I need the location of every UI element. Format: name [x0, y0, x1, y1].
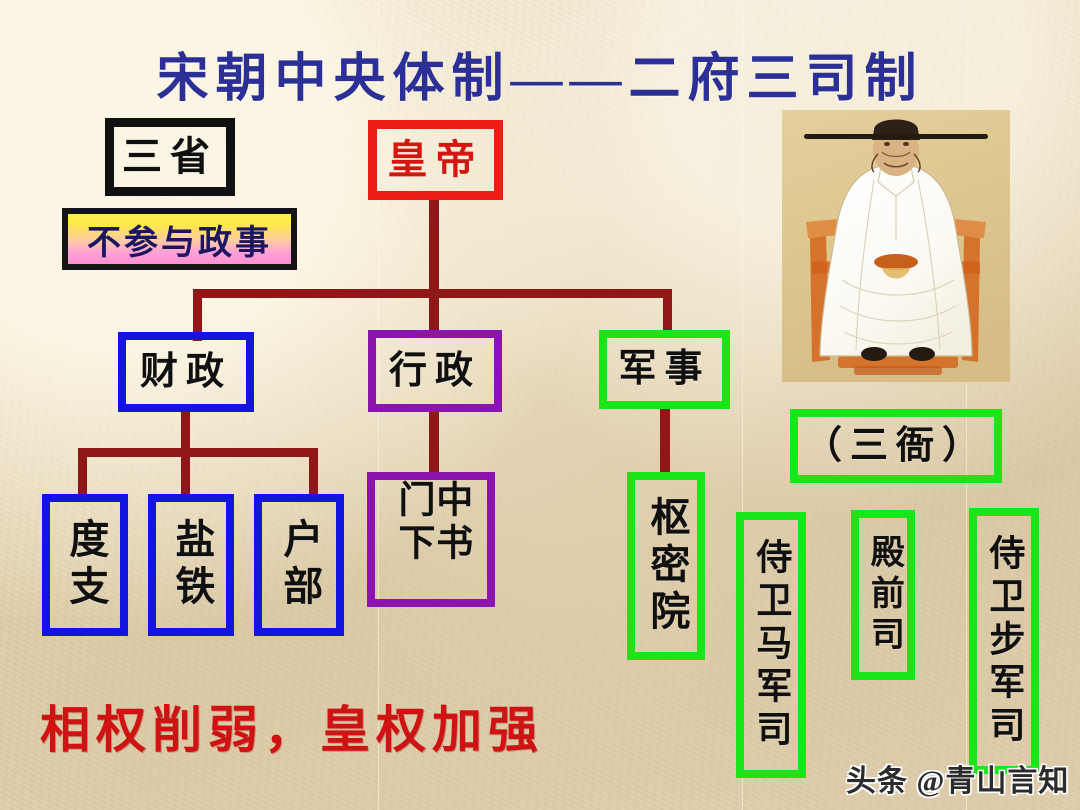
node-xingzheng[interactable]: 行政 [368, 330, 502, 412]
node-shiweibujunsi[interactable]: 侍卫步军司 [969, 508, 1039, 774]
node-label: 三省 [122, 137, 218, 178]
node-hubu[interactable]: 户部 [254, 494, 344, 636]
node-dianqiansi[interactable]: 殿前司 [851, 510, 915, 680]
slide-canvas: 宋朝中央体制——二府三司制 [0, 0, 1080, 810]
connector-admin-to-zhongshumenxia [429, 411, 439, 473]
node-label: 殿前司 [866, 534, 901, 657]
page-title: 宋朝中央体制——二府三司制 [0, 36, 1080, 111]
node-shiweimajunsi[interactable]: 侍卫马军司 [736, 512, 806, 778]
node-junshi[interactable]: 军事 [599, 330, 730, 409]
callout-label: 不参与政事 [87, 215, 272, 264]
connector-bus-to-military [663, 289, 672, 331]
watermark: 头条 @青山言知 [846, 756, 1069, 800]
emperor-portrait [782, 110, 1010, 382]
node-zhongshumenxia[interactable]: 中书门下 [367, 472, 495, 607]
node-label: （三衙） [804, 427, 988, 466]
connector-finance-to-hubu [309, 448, 318, 496]
node-label: 中书门下 [393, 480, 468, 599]
node-caizheng[interactable]: 财政 [118, 332, 254, 412]
node-huangdi[interactable]: 皇帝 [368, 120, 503, 200]
node-label: 军事 [618, 350, 710, 389]
connector-finance-to-duzhi [78, 448, 87, 496]
node-label: 盐铁 [171, 518, 212, 612]
node-duzhi[interactable]: 度支 [42, 494, 128, 636]
summary-slogan: 相权削弱，皇权加强 [40, 690, 544, 762]
node-label: 度支 [65, 518, 106, 612]
node-label: 枢密院 [646, 496, 687, 637]
connector-finance-bus [78, 448, 318, 457]
callout-no-political-participation[interactable]: 不参与政事 [62, 208, 297, 270]
node-label: 财政 [140, 353, 232, 392]
node-label: 侍卫步军司 [986, 534, 1023, 749]
node-label: 行政 [389, 352, 481, 391]
node-sanya[interactable]: （三衙） [790, 409, 1002, 483]
connector-military-to-shumiyuan [660, 408, 670, 474]
node-label: 皇帝 [388, 140, 484, 181]
node-label: 侍卫马军司 [753, 538, 790, 753]
node-label: 户部 [279, 518, 320, 612]
connector-emperor-to-bus [429, 198, 439, 294]
node-yantie[interactable]: 盐铁 [148, 494, 234, 636]
node-shumiyuan[interactable]: 枢密院 [627, 472, 705, 660]
node-sansheng[interactable]: 三省 [105, 118, 235, 196]
connector-bus-to-admin [429, 289, 439, 333]
